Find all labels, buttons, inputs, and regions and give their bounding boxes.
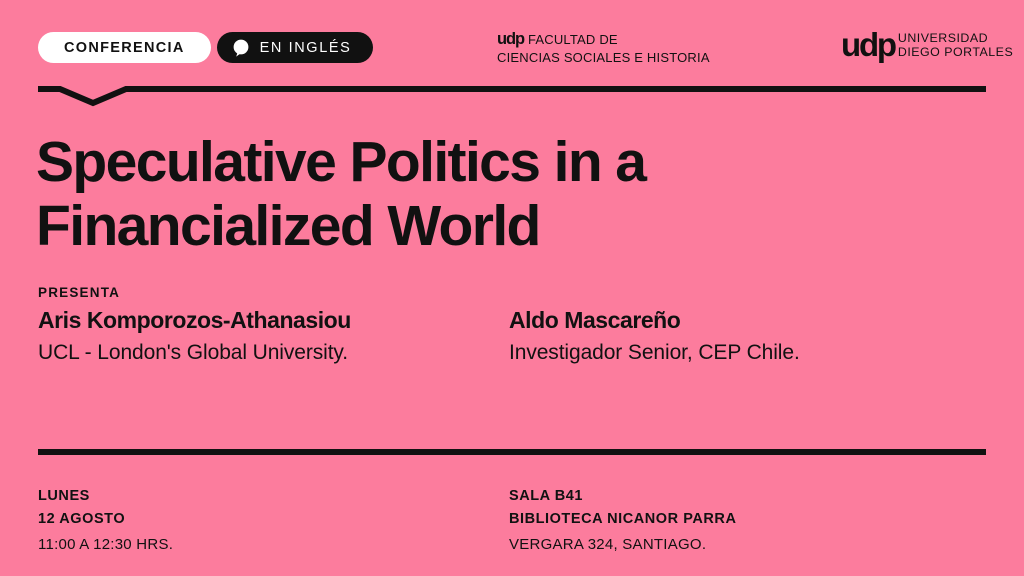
- event-room: SALA B41: [509, 485, 736, 508]
- speaker-block-1: Aris Komporozos-Athanasiou UCL - London'…: [38, 306, 351, 365]
- udp-faculty-line2: CIENCIAS SOCIALES E HISTORIA: [497, 50, 710, 67]
- footer-where: SALA B41 BIBLIOTECA NICANOR PARRA VERGAR…: [509, 485, 736, 557]
- conference-badge-label: CONFERENCIA: [64, 40, 185, 56]
- udp-university-line2: DIEGO PORTALES: [898, 45, 1013, 59]
- speaker-affiliation: UCL - London's Global University.: [38, 340, 351, 365]
- udp-wordmark-icon: udp: [497, 30, 524, 48]
- poster-title-line2: Financialized World: [36, 195, 736, 259]
- event-date: 12 AGOSTO: [38, 508, 173, 531]
- speaker-name: Aldo Mascareño: [509, 306, 800, 334]
- conference-badge: CONFERENCIA: [38, 32, 211, 63]
- footer-when: LUNES 12 AGOSTO 11:00 A 12:30 HRS.: [38, 485, 173, 557]
- badge-row: CONFERENCIA EN INGLÉS: [38, 32, 373, 63]
- udp-faculty-logo: udpFACULTAD DE CIENCIAS SOCIALES E HISTO…: [497, 29, 710, 67]
- event-venue: BIBLIOTECA NICANOR PARRA: [509, 508, 736, 531]
- speech-bubble-icon: [231, 38, 251, 58]
- udp-wordmark-large-icon: udp: [841, 29, 895, 61]
- event-day: LUNES: [38, 485, 173, 508]
- event-address: VERGARA 324, SANTIAGO.: [509, 533, 736, 557]
- language-badge: EN INGLÉS: [217, 32, 374, 63]
- event-time: 11:00 A 12:30 HRS.: [38, 533, 173, 557]
- poster-title-line1: Speculative Politics in a: [36, 131, 736, 195]
- udp-faculty-line1: FACULTAD DE: [528, 32, 618, 47]
- poster-canvas: CONFERENCIA EN INGLÉS udpFACULTAD DE CIE…: [0, 0, 1024, 576]
- speaker-affiliation: Investigador Senior, CEP Chile.: [509, 340, 800, 365]
- udp-university-logo: udp UNIVERSIDAD DIEGO PORTALES: [841, 28, 1013, 61]
- language-badge-label: EN INGLÉS: [260, 40, 352, 56]
- presenta-label: PRESENTA: [38, 285, 120, 300]
- speaker-block-2: Aldo Mascareño Investigador Senior, CEP …: [509, 306, 800, 365]
- udp-university-line1: UNIVERSIDAD: [898, 31, 1013, 45]
- divider-top-notched: [38, 86, 986, 107]
- divider-bottom: [38, 449, 986, 455]
- speaker-name: Aris Komporozos-Athanasiou: [38, 306, 351, 334]
- poster-title: Speculative Politics in a Financialized …: [36, 131, 736, 259]
